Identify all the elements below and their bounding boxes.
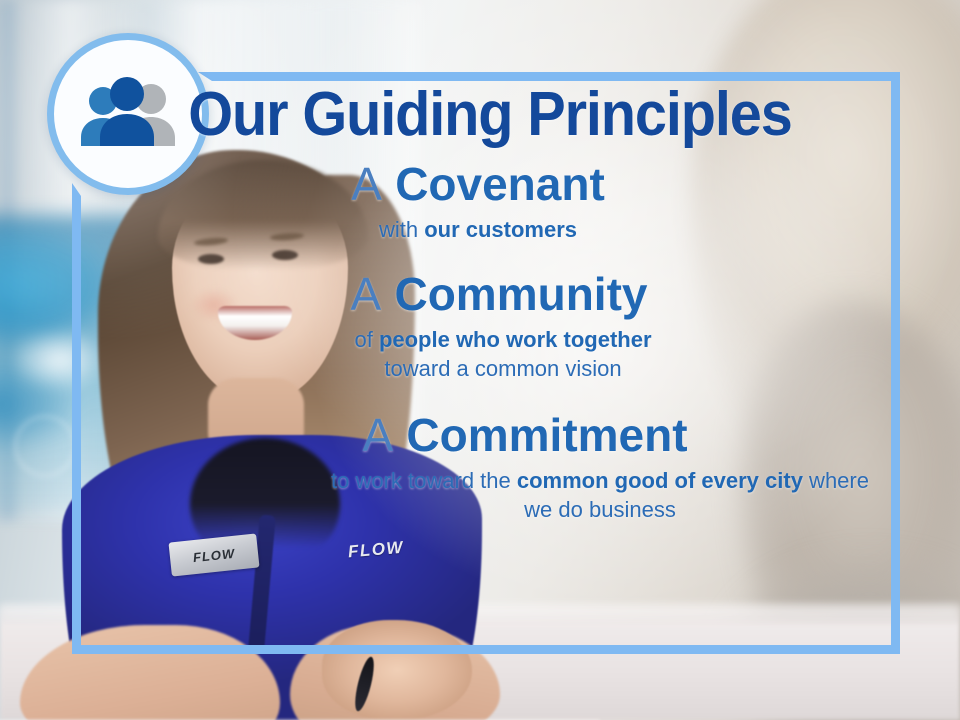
subtext-bold: common good of every city [517, 468, 803, 493]
subtext-plain-a: to work toward the [331, 468, 517, 493]
principle-lead: A [362, 409, 393, 461]
principle-community: A Community of people who work togethert… [100, 270, 880, 383]
subtext-plain-a: with [379, 217, 424, 242]
principle-subtext: to work toward the common good of every … [320, 466, 880, 525]
principle-covenant: A Covenant with our customers [100, 160, 880, 244]
page-title: Our Guiding Principles [127, 84, 852, 146]
principle-word: Covenant [395, 158, 605, 210]
principle-word: Commitment [406, 409, 687, 461]
guiding-principles-banner: FLOW FLOW [0, 0, 960, 720]
subtext-plain-a: of [354, 327, 378, 352]
principle-heading: A Commitment [170, 411, 880, 460]
principle-lead: A [351, 268, 382, 320]
principle-heading: A Covenant [76, 160, 880, 209]
principle-commitment: A Commitment to work toward the common g… [100, 411, 880, 524]
name-badge-text: FLOW [192, 545, 236, 564]
principle-subtext: of people who work togethertoward a comm… [126, 325, 880, 384]
principle-heading: A Community [118, 270, 880, 319]
text-block: Our Guiding Principles A Covenant with o… [100, 84, 880, 525]
subtext-bold: our customers [424, 217, 577, 242]
principle-lead: A [351, 158, 382, 210]
principle-word: Community [394, 268, 647, 320]
subtext-bold: people who work together [379, 327, 652, 352]
shirt-logo-text: FLOW [347, 538, 405, 563]
principle-subtext: with our customers [76, 215, 880, 244]
subtext-plain-b: toward a common vision [384, 356, 621, 381]
clasped-hands [322, 620, 472, 720]
